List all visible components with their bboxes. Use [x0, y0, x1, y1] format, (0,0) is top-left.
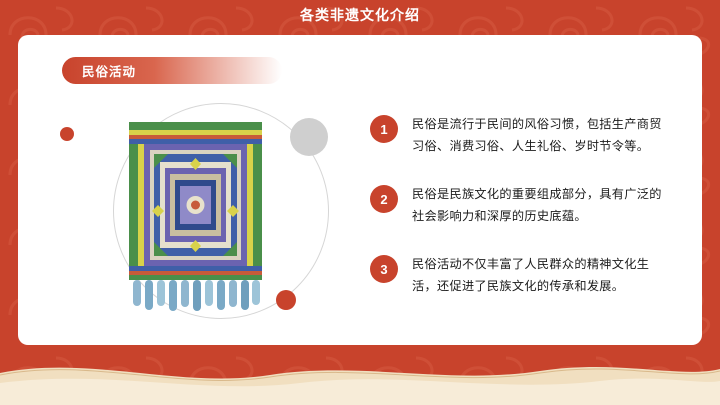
point-badge: 3: [370, 255, 398, 283]
page-title: 各类非遗文化介绍: [300, 5, 420, 25]
point-text: 民俗是流行于民间的风俗习惯，包括生产商贸习俗、消费习俗、人生礼俗、岁时节令等。: [412, 113, 664, 157]
list-item: 3 民俗活动不仅丰富了人民群众的精神文化生活，还促进了民族文化的传承和发展。: [370, 253, 670, 297]
decorative-dot-red-bottom: [276, 290, 296, 310]
decorative-dot-red-left: [60, 127, 74, 141]
decorative-dot-gray: [290, 118, 328, 156]
section-tag-label: 民俗活动: [82, 61, 136, 80]
content-card: 民俗活动: [18, 35, 702, 345]
point-text: 民俗是民族文化的重要组成部分，具有广泛的社会影响力和深厚的历史底蕴。: [412, 183, 664, 227]
point-badge: 1: [370, 115, 398, 143]
footer-wave-decoration: [0, 345, 720, 405]
point-badge: 2: [370, 185, 398, 213]
slide-title-bar: 各类非遗文化介绍: [0, 0, 720, 30]
list-item: 1 民俗是流行于民间的风俗习惯，包括生产商贸习俗、消费习俗、人生礼俗、岁时节令等…: [370, 113, 670, 157]
embroidered-textile-artwork-icon: [121, 120, 270, 315]
list-item: 2 民俗是民族文化的重要组成部分，具有广泛的社会影响力和深厚的历史底蕴。: [370, 183, 670, 227]
point-text: 民俗活动不仅丰富了人民群众的精神文化生活，还促进了民族文化的传承和发展。: [412, 253, 664, 297]
section-tag: 民俗活动: [62, 57, 282, 84]
slide: 各类非遗文化介绍 民俗活动: [0, 0, 720, 405]
points-list: 1 民俗是流行于民间的风俗习惯，包括生产商贸习俗、消费习俗、人生礼俗、岁时节令等…: [370, 113, 670, 323]
